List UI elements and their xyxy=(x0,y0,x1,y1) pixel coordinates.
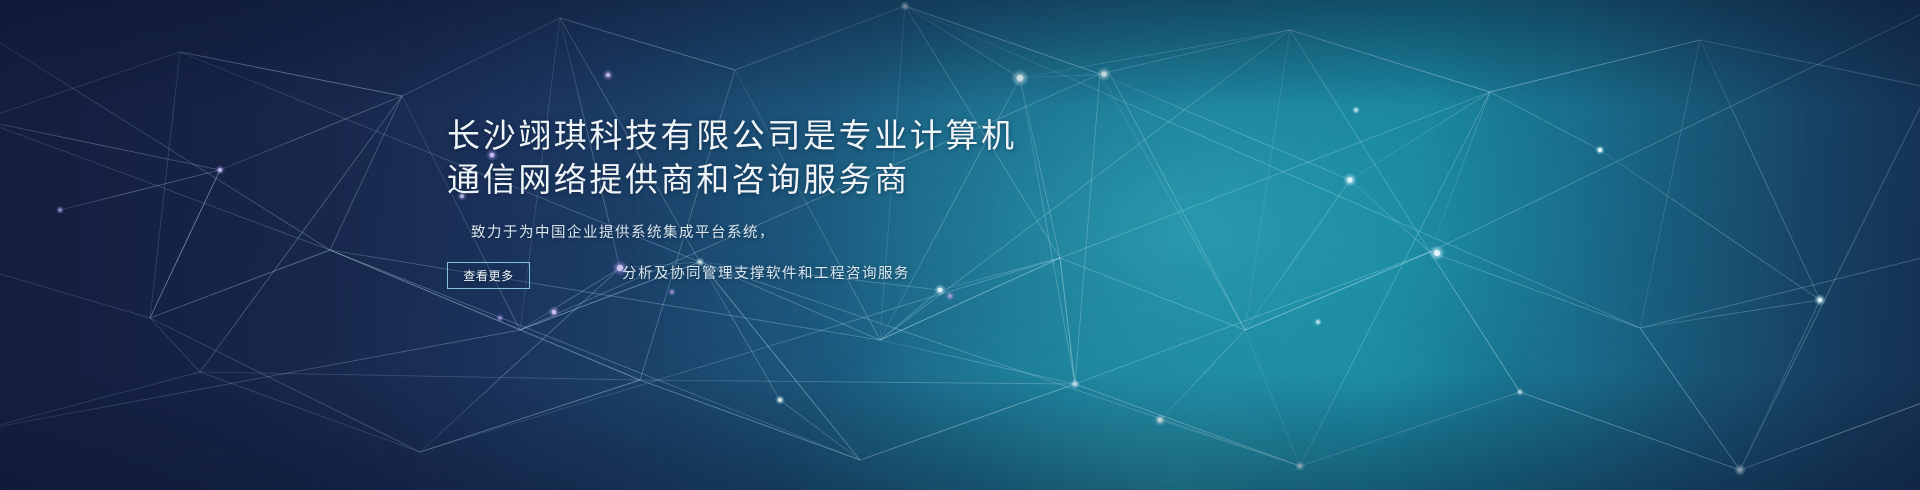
cta-row: 查看更多 xyxy=(447,262,530,289)
subheadline-line-2: 分析及协同管理支撑软件和工程咨询服务 xyxy=(447,263,1427,285)
view-more-button[interactable]: 查看更多 xyxy=(447,262,530,289)
hero-banner: 长沙翊琪科技有限公司是专业计算机 通信网络提供商和咨询服务商 致力于为中国企业提… xyxy=(0,0,1920,490)
subheadline-line-1: 致力于为中国企业提供系统集成平台系统， xyxy=(447,222,1427,244)
headline-line-1: 长沙翊琪科技有限公司是专业计算机 xyxy=(447,118,1427,157)
page-title: 长沙翊琪科技有限公司是专业计算机 通信网络提供商和咨询服务商 xyxy=(447,118,1427,201)
hero-copy: 长沙翊琪科技有限公司是专业计算机 通信网络提供商和咨询服务商 致力于为中国企业提… xyxy=(447,118,1427,285)
headline-line-2: 通信网络提供商和咨询服务商 xyxy=(447,162,1427,201)
